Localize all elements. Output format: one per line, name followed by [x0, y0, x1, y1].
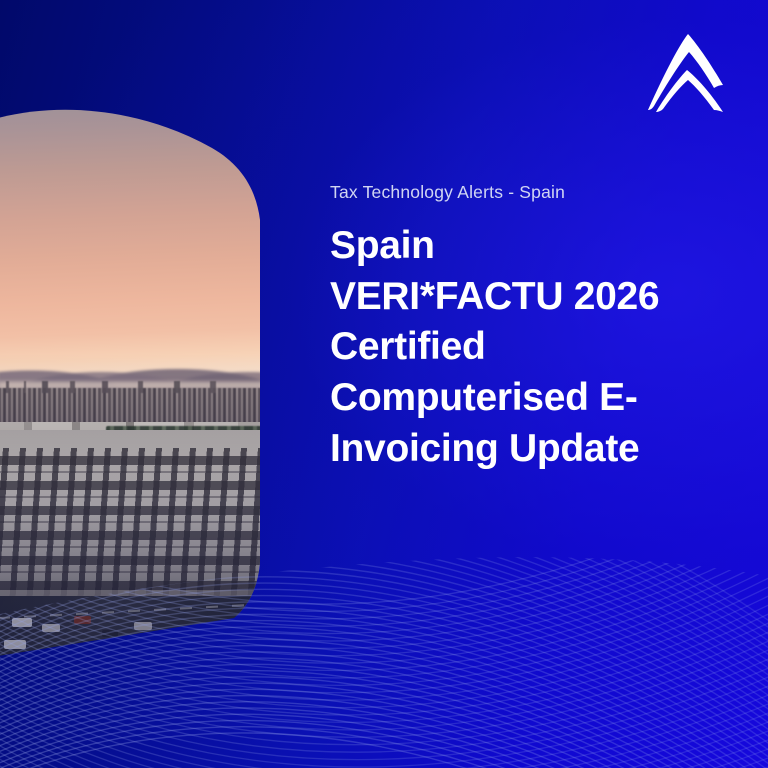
copy-block: Tax Technology Alerts - Spain Spain VERI…: [330, 182, 730, 474]
headline-line: Invoicing Update: [330, 424, 730, 475]
headline-line: Computerised E-: [330, 373, 730, 424]
photo-tint: [0, 96, 270, 656]
headline-line: Certified: [330, 322, 730, 373]
headline-line: Spain: [330, 221, 730, 272]
social-card: Tax Technology Alerts - Spain Spain VERI…: [0, 0, 768, 768]
eyebrow-label: Tax Technology Alerts - Spain: [330, 182, 730, 203]
headline-line: VERI*FACTU 2026: [330, 272, 730, 323]
stratos-arc-a-logo-icon: [640, 30, 736, 116]
photo-inner: [0, 96, 270, 656]
cityscape-photo: [0, 96, 270, 656]
page-title: Spain VERI*FACTU 2026 Certified Computer…: [330, 221, 730, 474]
